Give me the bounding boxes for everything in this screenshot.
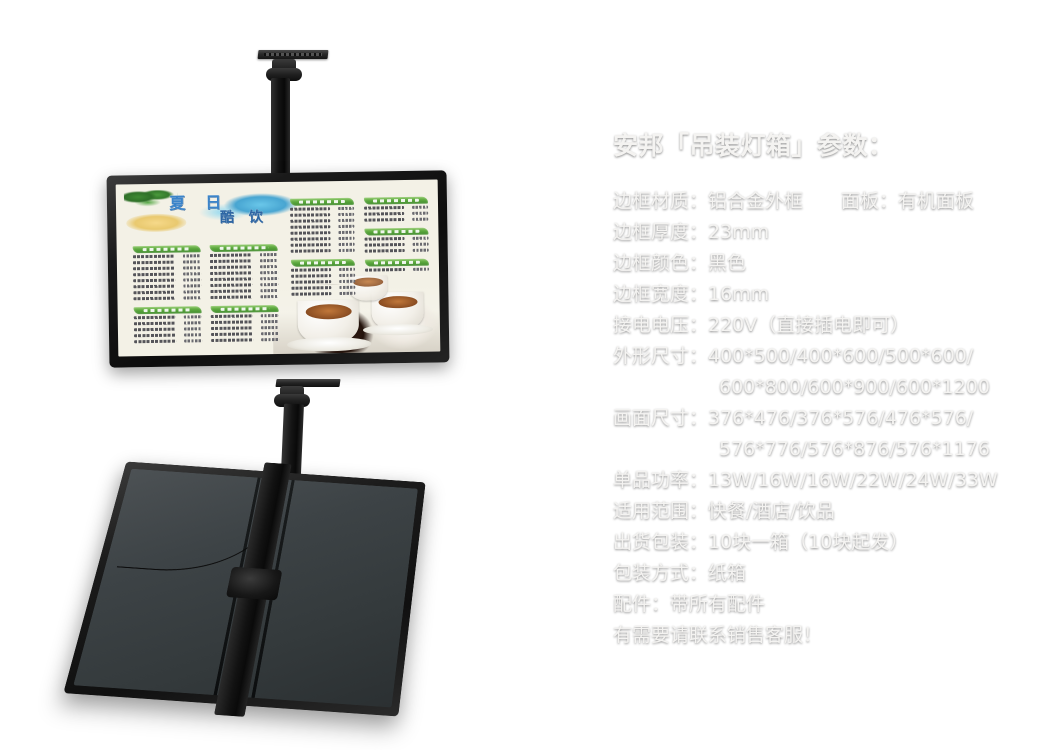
beach-illustration [126,214,186,232]
menu-item-price [183,260,201,263]
menu-item-name [211,295,253,299]
spec-line: 单品功率：13W/16W/16W/22W/24W/33W [613,465,1053,496]
menu-item-name [211,320,253,324]
menu-item-row [290,243,354,249]
menu-item-name [211,283,253,287]
menu-item-row [134,321,202,327]
menu-section-spacer [365,274,429,279]
menu-item-price [338,237,355,240]
menu-item-price [260,265,278,268]
spec-line: 600*800/600*900/600*1200 [613,372,1053,403]
menu-item-row [133,290,201,296]
menu-column [290,198,356,303]
menu-section-header [364,228,428,236]
menu-item-row [133,284,201,290]
menu-item-price [412,243,429,246]
menu-item-name [133,261,175,265]
menu-item-price [339,280,356,283]
hero-title-char: 酷 [220,211,234,225]
mount-plate-holes [264,53,322,56]
menu-item-name [364,212,404,216]
menu-item-row [134,315,202,321]
menu-item-name [291,292,331,296]
menu-item-price [184,315,202,318]
menu-item-price [261,283,279,286]
menu-item-row [211,295,279,301]
spec-panel: 安邦「吊装灯箱」参数： 边框材质：铝合金外框 面板：有机面板边框厚度：23mm边… [613,126,1053,651]
menu-section-header [133,245,201,253]
menu-item-name [291,274,331,278]
menu-item-row [211,332,279,338]
lightbox-panel: 夏 日 酷 饮 [116,179,441,356]
menu-item-price [261,289,279,292]
upper-support-pole [271,78,290,186]
menu-item-row [133,266,201,272]
menu-item-name [211,277,253,281]
menu-item-row [291,286,355,292]
menu-item-price [261,332,279,335]
menu-item-name [365,268,405,272]
ceiling-mount-plate [258,50,329,59]
menu-section-header [291,259,355,267]
menu-item-name [290,237,330,241]
menu-item-price [338,243,355,246]
menu-item-row [365,243,429,249]
menu-section-header [134,306,202,314]
menu-item-name [133,284,175,288]
menu-item-name [290,243,330,247]
spec-line: 出货包装：10块一箱（10块起发） [613,527,1053,558]
menu-item-price [338,213,355,216]
menu-item-price [183,278,201,281]
menu-item-price [184,327,202,330]
menu-item-row [365,249,429,255]
menu-item-name [291,286,331,290]
menu-item-row [291,292,355,298]
menu-item-price [412,206,429,209]
menu-item-row [210,271,278,277]
menu-item-row [133,254,201,260]
menu-item-price [184,296,202,299]
menu-item-price [260,253,278,256]
menu-item-row [291,280,355,286]
menu-item-name [134,327,176,331]
menu-item-row [211,326,279,332]
menu-item-price [412,212,429,215]
poster-hero: 夏 日 酷 饮 [122,185,303,239]
menu-item-price [413,268,430,271]
menu-item-price [184,339,202,342]
product-detail-image: 夏 日 酷 饮 [0,0,1064,750]
menu-item-name [210,253,252,257]
menu-item-row [211,314,279,320]
spec-line: 接电电压：220V（直接插电即可） [613,310,1053,341]
spec-line: 包装方式：纸箱 [613,558,1053,589]
menu-item-name [134,321,176,325]
menu-item-row [211,289,279,295]
menu-item-row [365,268,429,274]
menu-item-name [211,326,253,330]
menu-item-row [290,219,354,225]
lightbox-display: 夏 日 酷 饮 [107,170,450,367]
spec-title: 安邦「吊装灯箱」参数： [613,126,1053,162]
menu-item-name [290,231,330,235]
menu-item-price [261,314,279,317]
menu-item-price [339,268,356,271]
menu-item-price [338,225,355,228]
menu-item-name [290,207,330,211]
menu-item-price [338,231,355,234]
menu-item-name [133,266,175,270]
menu-item-name [134,333,176,337]
menu-item-row [290,213,354,219]
menu-item-row [210,259,278,265]
menu-item-price [183,284,201,287]
lightbox-rear-view [63,462,425,717]
menu-item-row [290,207,354,213]
spec-line: 边框颜色：黑色 [613,248,1053,279]
menu-item-price [261,326,279,329]
menu-item-price [339,274,356,277]
coffee-liquid [378,295,417,308]
menu-item-price [183,272,201,275]
rear-bracket-hub [226,566,282,600]
menu-item-price [184,321,202,324]
menu-item-name [211,289,253,293]
menu-item-row [364,212,428,218]
menu-item-name [134,315,176,319]
spec-line: 576*776/576*876/576*1176 [613,434,1053,465]
menu-item-name [290,225,330,229]
menu-item-row [133,260,201,266]
menu-item-row [364,237,428,243]
menu-item-price [338,249,355,252]
menu-item-price [412,249,429,252]
hero-title-char: 饮 [249,210,263,224]
menu-section-header [211,305,279,313]
menu-item-name [291,268,331,272]
menu-section-header [364,197,428,205]
menu-item-row [291,274,355,280]
menu-section-header [290,198,354,206]
menu-item-price [338,207,355,210]
menu-item-row [364,218,428,224]
coffee-cup-image [298,299,360,345]
menu-item-name [365,243,405,247]
menu-item-row [290,231,354,237]
menu-item-price [338,219,355,222]
menu-item-name [290,213,330,217]
menu-column [364,197,430,279]
menu-item-name [134,296,176,300]
spec-line: 画面尺寸：376*476/376*576/476*576/ [613,403,1053,434]
menu-item-price [412,218,429,221]
menu-column [133,245,202,350]
menu-item-name [133,255,175,259]
menu-item-name [133,272,175,276]
spec-line: 配件：带所有配件 [613,589,1053,620]
menu-item-name [211,314,253,318]
menu-item-row [211,277,279,283]
menu-item-row [364,206,428,212]
menu-poster: 夏 日 酷 饮 [116,179,441,356]
spec-line: 边框厚度：23mm [613,217,1053,248]
product-photo: 夏 日 酷 饮 [0,0,580,750]
menu-item-price [260,259,278,262]
menu-item-price [261,320,279,323]
menu-item-name [211,332,253,336]
menu-item-price [184,333,202,336]
menu-item-name [133,290,175,294]
menu-item-price [260,271,278,274]
menu-item-row [133,272,201,278]
menu-section-header [210,244,278,252]
menu-section-header [365,259,429,267]
spec-line: 边框材质：铝合金外框 面板：有机面板 [613,186,1053,217]
menu-item-price [183,266,201,269]
menu-item-row [134,333,202,339]
menu-item-row [291,249,355,255]
menu-item-name [211,338,253,342]
coffee-liquid [305,304,352,320]
menu-item-name [291,280,331,284]
menu-item-row [210,253,278,259]
menu-item-row [211,338,279,344]
menu-item-price [412,237,429,240]
menu-item-name [364,218,404,222]
menu-item-row [290,237,354,243]
menu-item-row [134,339,202,345]
menu-item-name [364,206,404,210]
menu-item-row [134,327,202,333]
coffee-liquid [354,278,383,287]
menu-item-row [134,296,202,302]
menu-item-name [290,219,330,223]
hero-title-char: 日 [205,195,221,211]
menu-item-name [210,259,252,263]
menu-item-price [261,295,279,298]
menu-item-price [339,286,356,289]
menu-item-name [364,237,404,241]
spec-line-list: 边框材质：铝合金外框 面板：有机面板边框厚度：23mm边框颜色：黑色边框宽度：1… [613,186,1053,651]
menu-item-price [339,292,356,295]
spec-line: 边框宽度：16mm [613,279,1053,310]
menu-item-name [291,249,331,253]
menu-item-row [211,283,279,289]
menu-item-name [134,339,176,343]
menu-item-name [210,271,252,275]
menu-item-name [210,265,252,269]
menu-item-row [291,268,355,274]
menu-item-name [365,249,405,253]
menu-item-name [133,278,175,282]
menu-item-price [261,277,279,280]
menu-item-row [210,265,278,271]
menu-item-row [211,320,279,326]
menu-item-row [133,278,201,284]
menu-item-price [183,290,201,293]
menu-item-price [183,254,201,257]
hero-title-char: 夏 [169,195,185,211]
menu-column [210,244,279,349]
menu-item-row [290,225,354,231]
spec-line: 适用范围：快餐/酒店/饮品 [613,496,1053,527]
spec-line: 有需要请联系销售客服！ [613,620,1053,651]
menu-item-price [261,338,279,341]
spec-line: 外形尺寸：400*500/400*600/500*600/ [613,341,1053,372]
